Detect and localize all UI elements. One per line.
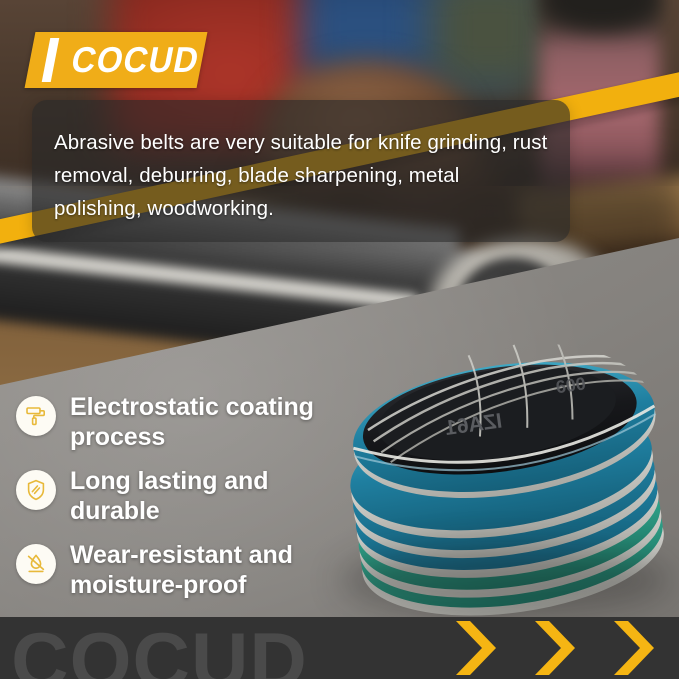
shield-icon: [24, 478, 48, 502]
feature-icon-badge: [16, 544, 56, 584]
logo-text: COCUD: [68, 38, 204, 82]
paint-roller-icon: [24, 404, 48, 428]
feature-icon-badge: [16, 470, 56, 510]
chevron-right-icon: [531, 621, 577, 675]
bottom-brand-bar: COCUD: [0, 617, 679, 679]
description-text: Abrasive belts are very suitable for kni…: [54, 126, 552, 225]
product-image-sanding-belts: IZA61 600: [330, 315, 679, 630]
feature-label: Wear-resistant and moisture-proof: [70, 540, 346, 600]
chevron-right-icon: [610, 621, 656, 675]
feature-label: Electrostatic coating process: [70, 392, 346, 452]
product-marketing-image: Abrasive belts are very suitable for kni…: [0, 0, 679, 679]
feature-item: Long lasting and durable: [16, 466, 346, 526]
feature-icon-badge: [16, 396, 56, 436]
brand-logo: COCUD: [25, 32, 208, 88]
brand-watermark: COCUD: [11, 621, 308, 679]
logo-slash-icon: [42, 38, 60, 82]
feature-item: Electrostatic coating process: [16, 392, 346, 452]
feature-list: Electrostatic coating process Long lasti…: [16, 392, 346, 610]
chevron-right-icon: [452, 621, 498, 675]
feature-label: Long lasting and durable: [70, 466, 346, 526]
no-moisture-icon: [24, 552, 48, 576]
product-shadow: [340, 545, 670, 615]
feature-item: Wear-resistant and moisture-proof: [16, 540, 346, 600]
belt-grit-text: 600: [554, 373, 587, 397]
photo-green-sleeve: [430, 0, 550, 90]
description-callout: Abrasive belts are very suitable for kni…: [32, 100, 570, 242]
